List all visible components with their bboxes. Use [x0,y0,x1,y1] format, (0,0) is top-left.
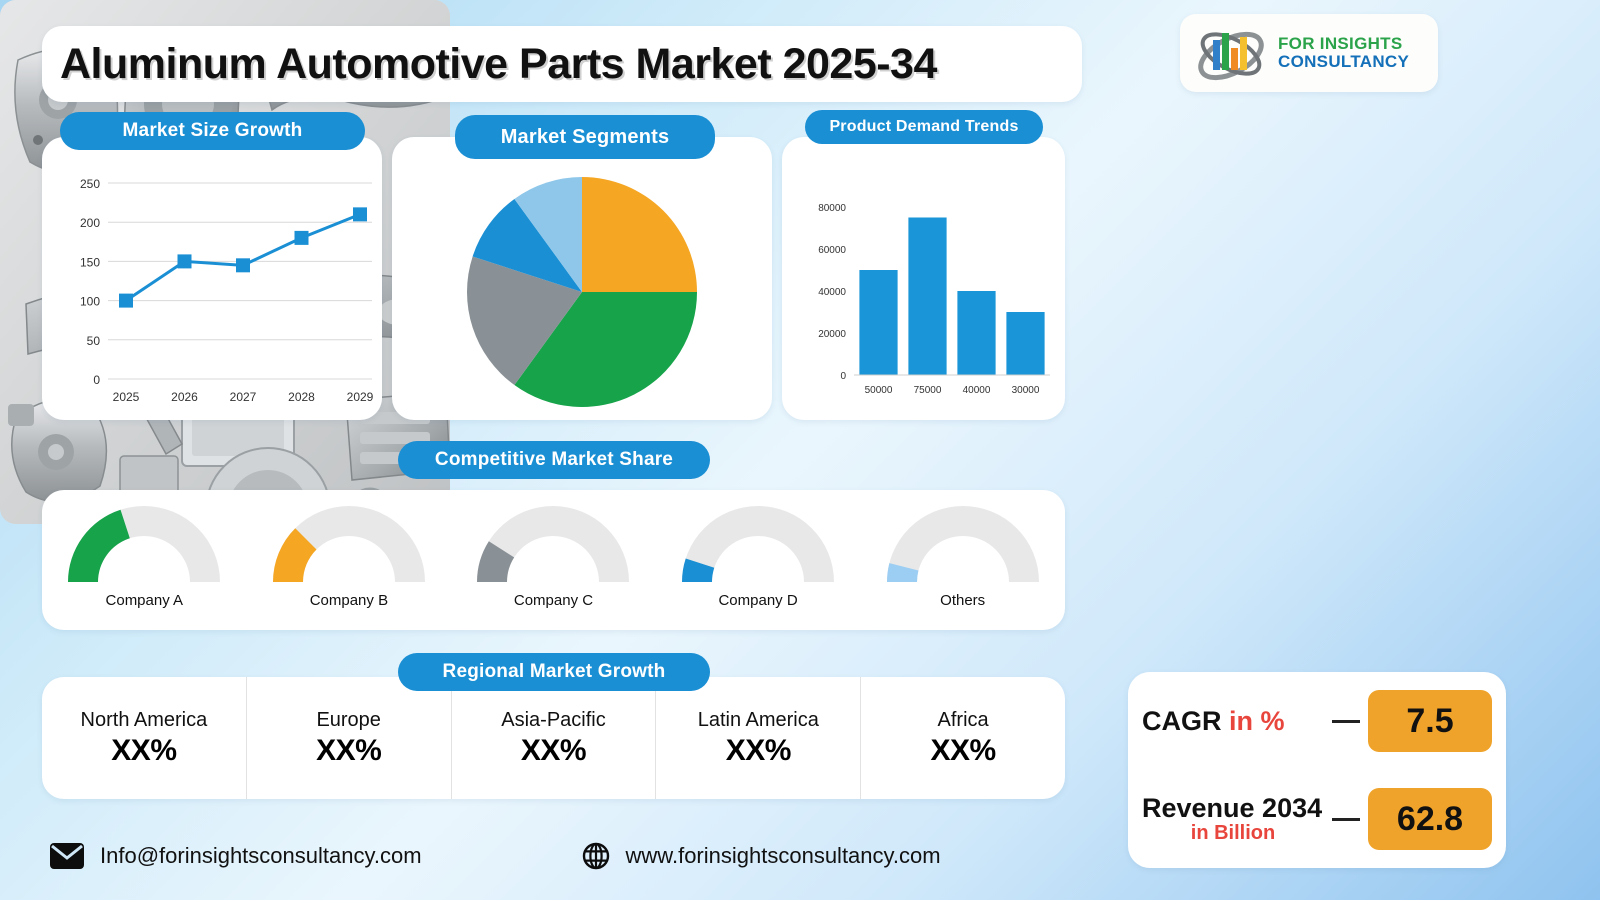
product-demand-panel-title: Product Demand Trends [805,110,1043,144]
key-metrics-panel: CAGR in % 7.5 Revenue 2034 in Billion 62… [1128,672,1506,868]
revenue-dash [1332,818,1360,821]
globe-icon [582,842,610,870]
footer-website-text: www.forinsightsconsultancy.com [626,843,941,869]
region-cell-north-america: North AmericaXX% [42,677,247,799]
brand-logo-text: FOR INSIGHTS CONSULTANCY [1278,35,1409,71]
cagr-label-black: CAGR [1142,706,1229,736]
gauge-arc [468,504,638,588]
region-value: XX% [726,734,791,768]
footer: Info@forinsightsconsultancy.com www.fori… [42,832,1082,880]
pie-chart-slices [467,177,697,407]
region-value: XX% [521,734,586,768]
market-size-panel-title: Market Size Growth [60,112,365,150]
revenue-label-red: in Billion [1142,823,1324,844]
gauge-company-b: Company B [247,504,452,609]
gauge-company-a: Company A [42,504,247,609]
pie-chart-svg [392,137,772,420]
svg-text:20000: 20000 [818,329,846,340]
region-name: Asia-Pacific [501,709,605,732]
svg-text:40000: 40000 [963,385,991,396]
svg-text:50000: 50000 [865,385,893,396]
gauge-label: Company A [106,592,184,609]
gauge-label: Company B [310,592,388,609]
svg-text:0: 0 [840,371,846,382]
gauge-label: Company C [514,592,593,609]
region-value: XX% [316,734,381,768]
footer-email-text: Info@forinsightsconsultancy.com [100,843,422,869]
page-title: Aluminum Automotive Parts Market 2025-34 [60,40,937,89]
cagr-label-red: in % [1229,706,1285,736]
svg-text:75000: 75000 [914,385,942,396]
competitive-market-share-panel: Company ACompany BCompany CCompany DOthe… [42,490,1065,630]
gauge-company-c: Company C [451,504,656,609]
region-name: Africa [938,709,989,732]
gauge-label: Company D [718,592,797,609]
envelope-icon [50,843,84,869]
svg-text:2026: 2026 [171,390,198,404]
line-chart-svg: 050100150200250 20252026202720282029 [42,137,382,420]
bar-chart-y-tick-labels: 020000400006000080000 [818,203,846,382]
svg-text:2028: 2028 [288,390,315,404]
line-chart-gridlines [108,183,372,379]
region-cell-africa: AfricaXX% [861,677,1065,799]
revenue-row: Revenue 2034 in Billion 62.8 [1128,770,1506,868]
svg-text:100: 100 [80,295,100,309]
region-row: North AmericaXX%EuropeXX%Asia-PacificXX%… [42,677,1065,799]
gauge-company-d: Company D [656,504,861,609]
region-name: North America [81,709,208,732]
svg-text:150: 150 [80,255,100,269]
cagr-label: CAGR in % [1142,707,1324,735]
competitive-share-panel-title: Competitive Market Share [398,441,710,479]
gauge-arc [264,504,434,588]
revenue-label-black: Revenue 2034 [1142,794,1324,822]
market-size-growth-chart: 050100150200250 20252026202720282029 [42,137,382,420]
cagr-dash [1332,720,1360,723]
cagr-row: CAGR in % 7.5 [1128,672,1506,770]
line-chart-series [126,214,360,300]
region-value: XX% [930,734,995,768]
footer-email[interactable]: Info@forinsightsconsultancy.com [50,843,422,869]
gauge-others: Others [860,504,1065,609]
brand-logo[interactable]: FOR INSIGHTS CONSULTANCY [1180,14,1438,92]
svg-text:2029: 2029 [347,390,374,404]
svg-text:250: 250 [80,177,100,191]
region-cell-latin-america: Latin AmericaXX% [656,677,861,799]
line-chart-x-tick-labels: 20252026202720282029 [113,390,374,404]
revenue-value-badge: 62.8 [1368,788,1492,850]
svg-text:40000: 40000 [818,287,846,298]
region-name: Europe [316,709,381,732]
regional-market-growth-panel: North AmericaXX%EuropeXX%Asia-PacificXX%… [42,677,1065,799]
product-demand-trends-chart: 020000400006000080000 500007500040000300… [782,137,1065,420]
svg-text:2025: 2025 [113,390,140,404]
regional-growth-panel-title: Regional Market Growth [398,653,710,691]
svg-text:30000: 30000 [1012,385,1040,396]
region-cell-asia-pacific: Asia-PacificXX% [452,677,657,799]
svg-text:2027: 2027 [230,390,257,404]
gauge-arc [59,504,229,588]
gauge-arc [673,504,843,588]
bar-chart-svg: 020000400006000080000 500007500040000300… [782,137,1065,420]
svg-text:200: 200 [80,216,100,230]
region-value: XX% [111,734,176,768]
revenue-label: Revenue 2034 in Billion [1142,794,1324,843]
svg-text:0: 0 [93,373,100,387]
svg-text:80000: 80000 [818,203,846,214]
region-cell-europe: EuropeXX% [247,677,452,799]
bar-chart-x-tick-labels: 50000750004000030000 [865,385,1040,396]
page-title-card: Aluminum Automotive Parts Market 2025-34 [42,26,1082,102]
brand-logo-line1: FOR INSIGHTS [1278,35,1409,53]
market-segments-panel-title: Market Segments [455,115,715,159]
region-name: Latin America [698,709,819,732]
svg-text:50: 50 [87,334,101,348]
brand-logo-line2: CONSULTANCY [1278,53,1409,71]
market-segments-chart [392,137,772,420]
gauge-arc [878,504,1048,588]
svg-text:60000: 60000 [818,245,846,256]
bar-chart-bars [854,218,1050,376]
gauge-row: Company ACompany BCompany CCompany DOthe… [42,490,1065,630]
cagr-value-badge: 7.5 [1368,690,1492,752]
gauge-label: Others [940,592,985,609]
bar-chart-swoosh-logo-icon [1192,22,1270,84]
footer-website[interactable]: www.forinsightsconsultancy.com [582,842,941,870]
line-chart-y-tick-labels: 050100150200250 [80,177,100,387]
